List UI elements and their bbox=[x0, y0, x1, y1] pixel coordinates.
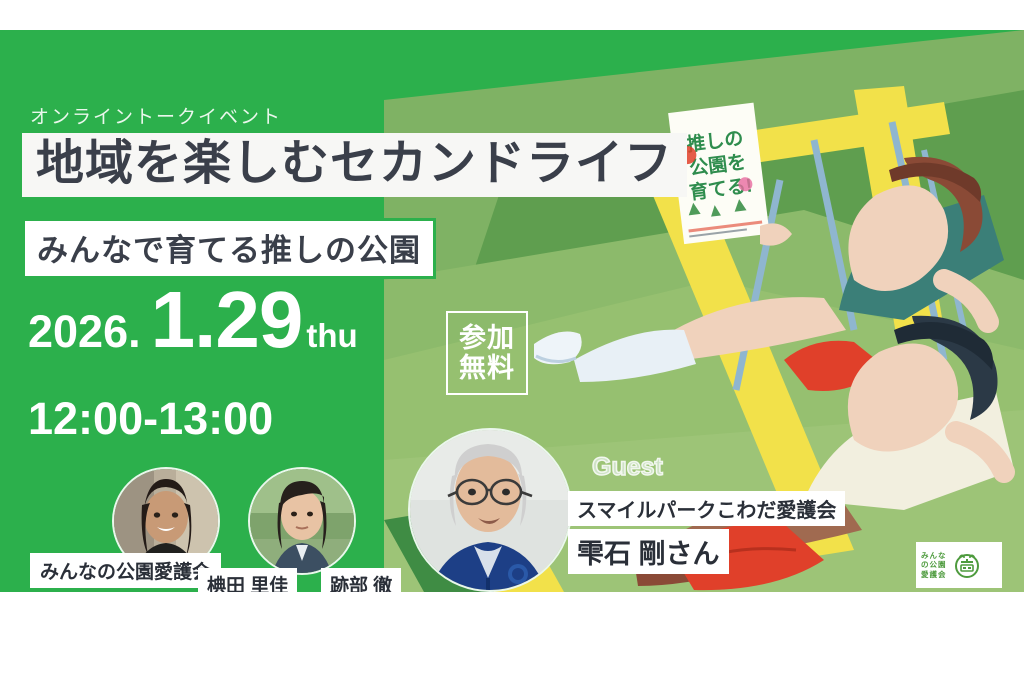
event-date: 2026. 1.29 thu bbox=[28, 280, 358, 360]
organization-logo: みんな の公園 愛護会 bbox=[916, 542, 1002, 588]
logo-line-2: の公園 bbox=[921, 560, 947, 569]
host-name-1: 椣田 里佳 bbox=[198, 568, 297, 592]
park-emblem-icon bbox=[952, 550, 982, 580]
host-name-2: 跡部 徹 bbox=[321, 568, 401, 592]
event-time: 12:00-13:00 bbox=[28, 393, 273, 445]
event-poster: 推しの 公園を 育てる! オンライントークイベント bbox=[0, 30, 1024, 592]
event-year: 2026. bbox=[28, 306, 141, 358]
free-badge-line2: 無料 bbox=[459, 353, 515, 383]
eyebrow-label: オンライントークイベント bbox=[30, 102, 282, 129]
page-title: 地域を楽しむセカンドライフ bbox=[22, 133, 687, 197]
page-title-text: 地域を楽しむセカンドライフ bbox=[36, 137, 673, 190]
subtitle: みんなで育てる推しの公園 bbox=[22, 218, 436, 279]
logo-line-1: みんな bbox=[921, 551, 947, 560]
avatar bbox=[248, 467, 356, 575]
logo-text: みんな の公園 愛護会 bbox=[921, 551, 947, 579]
logo-line-3: 愛護会 bbox=[921, 570, 947, 579]
event-weekday: thu bbox=[306, 317, 357, 355]
host-org-label: みんなの公園愛護会 bbox=[30, 553, 221, 588]
status-badge: 参加 無料 bbox=[446, 311, 528, 395]
subtitle-text: みんなで育てる推しの公園 bbox=[37, 233, 421, 268]
guest-name: 雫石 剛さん bbox=[568, 529, 729, 574]
avatar bbox=[408, 428, 572, 592]
free-badge-line1: 参加 bbox=[459, 323, 515, 353]
event-day: 1.29 bbox=[151, 280, 303, 360]
guest-org: スマイルパークこわだ愛護会 bbox=[568, 491, 845, 526]
guest-label: Guest bbox=[592, 453, 663, 482]
